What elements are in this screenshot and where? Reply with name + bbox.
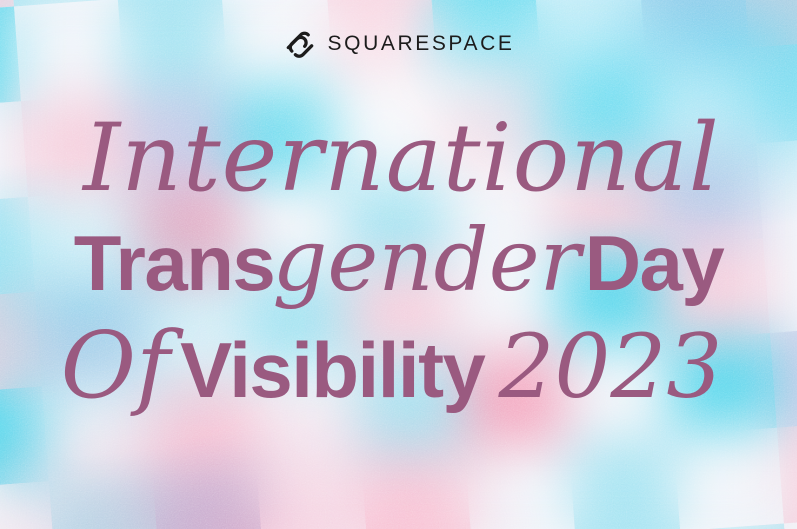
squarespace-wordmark: SQUARESPACE [328, 33, 515, 54]
headline-block: International TransgenderDay OfVisibilit… [0, 112, 797, 412]
headline-word-international: International [83, 104, 720, 213]
headline-word-of: Of [61, 312, 170, 419]
headline-line-2: TransgenderDay [0, 218, 797, 304]
headline-line-3: OfVisibility2023 [0, 320, 797, 412]
poster-alt-text: International Transgender Day Of Visibil… [0, 0, 1, 1]
poster-canvas: SQUARESPACE International TransgenderDay… [0, 0, 797, 529]
headline-line-1: International [6, 112, 797, 206]
headline-word-visibility: Visibility [180, 326, 484, 414]
poster-content: SQUARESPACE International TransgenderDay… [0, 0, 797, 529]
headline-word-trans: Trans [74, 219, 275, 307]
headline-word-year: 2023 [498, 315, 722, 418]
headline-word-day: Day [585, 219, 724, 307]
squarespace-logo: SQUARESPACE [0, 26, 797, 60]
headline-word-gender: gender [272, 211, 580, 311]
squarespace-logo-mark [283, 26, 317, 60]
